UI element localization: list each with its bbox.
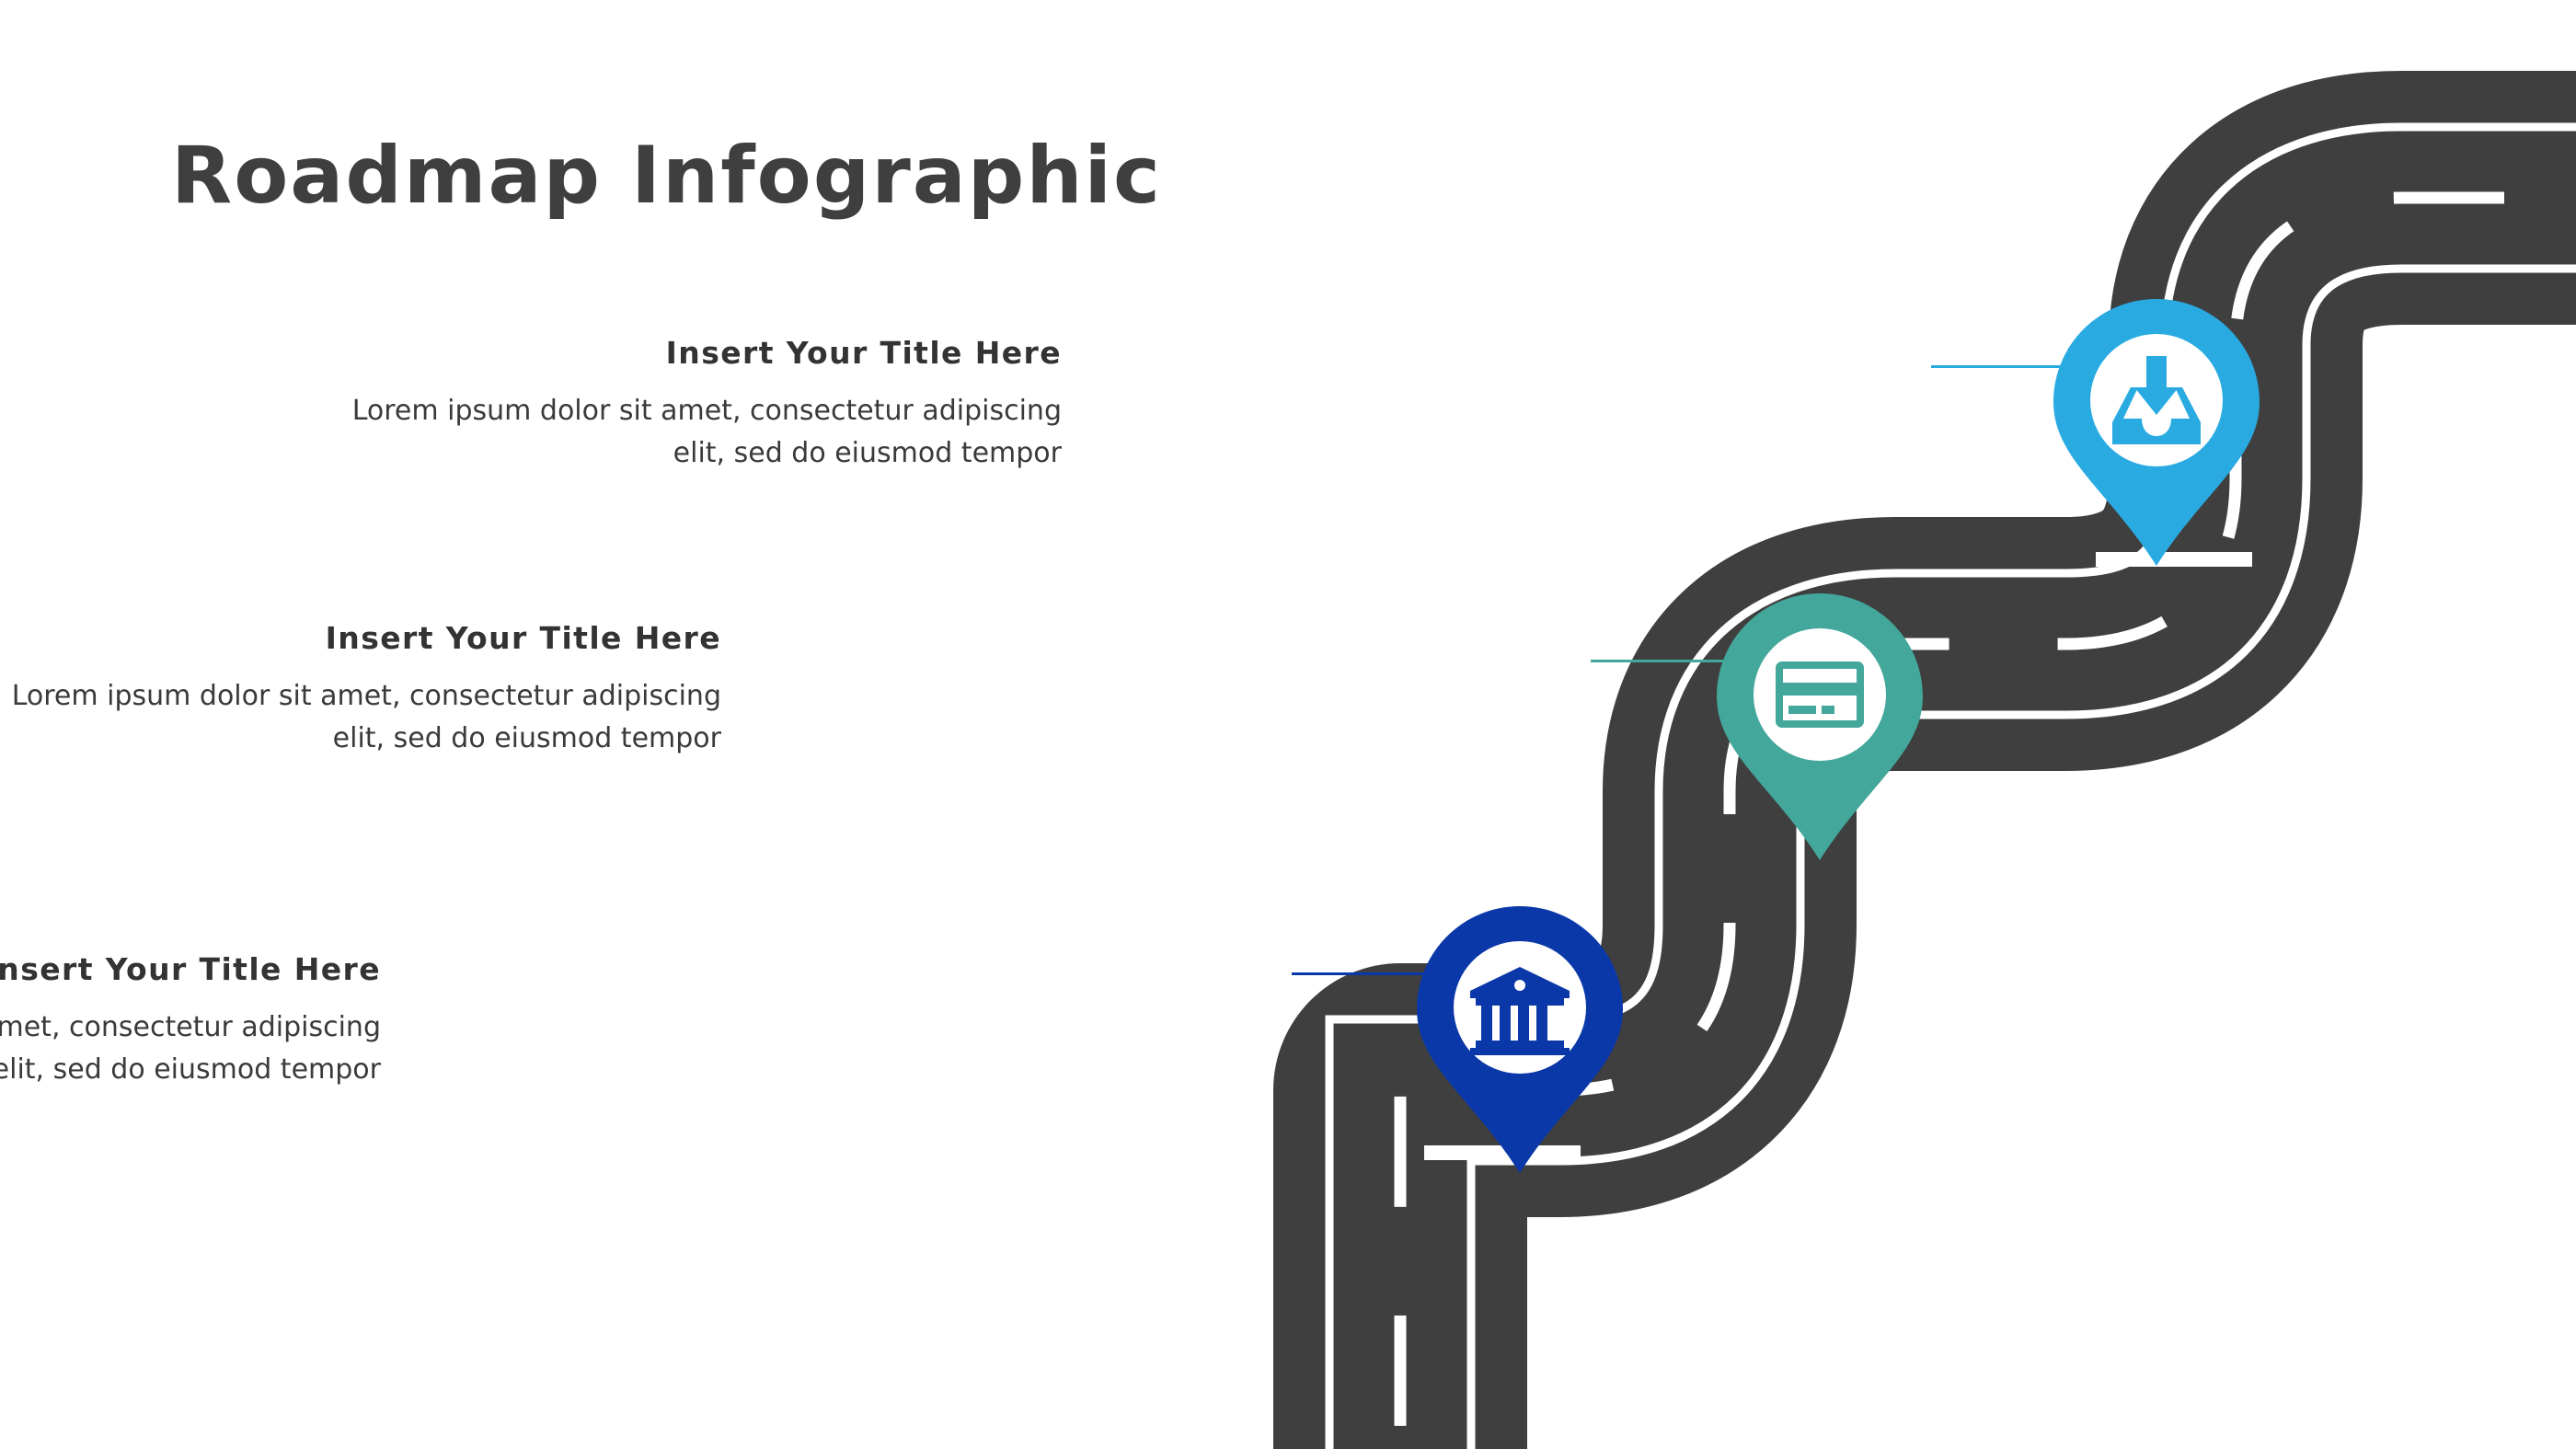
milestone-2-body-line-1: Lorem ipsum dolor sit amet, consectetur … — [0, 675, 721, 718]
milestone-2-title: Insert Your Title Here — [0, 622, 721, 655]
milestone-3-body-line-1: Lorem ipsum dolor sit amet, consectetur … — [0, 1006, 381, 1049]
milestone-2-body: Lorem ipsum dolor sit amet, consectetur … — [0, 675, 721, 759]
milestone-3-body-line-2: elit, sed do eiusmod tempor — [0, 1049, 381, 1091]
milestone-2-text-block: Insert Your Title Here Lorem ipsum dolor… — [0, 622, 721, 759]
milestone-1-title: Insert Your Title Here — [289, 337, 1062, 370]
milestone-3-text-block: Insert Your Title Here Lorem ipsum dolor… — [0, 953, 381, 1090]
milestone-1-body-line-1: Lorem ipsum dolor sit amet, consectetur … — [289, 390, 1062, 432]
milestone-2-pin[interactable] — [1717, 593, 1923, 860]
milestone-1-body-line-2: elit, sed do eiusmod tempor — [289, 432, 1062, 475]
milestone-3-body: Lorem ipsum dolor sit amet, consectetur … — [0, 1006, 381, 1090]
milestone-1-body: Lorem ipsum dolor sit amet, consectetur … — [289, 390, 1062, 474]
slide-canvas: Roadmap Infographic Insert — [0, 0, 2576, 1449]
road-lane-dashes — [1400, 198, 2576, 1449]
road-asphalt — [1400, 198, 2576, 1449]
milestone-3-title: Insert Your Title Here — [0, 953, 381, 986]
milestone-2-body-line-2: elit, sed do eiusmod tempor — [0, 718, 721, 760]
milestone-1-pin[interactable] — [2053, 299, 2260, 566]
milestone-1-text-block: Insert Your Title Here Lorem ipsum dolor… — [289, 337, 1062, 474]
milestone-3-pin[interactable] — [1417, 906, 1623, 1173]
